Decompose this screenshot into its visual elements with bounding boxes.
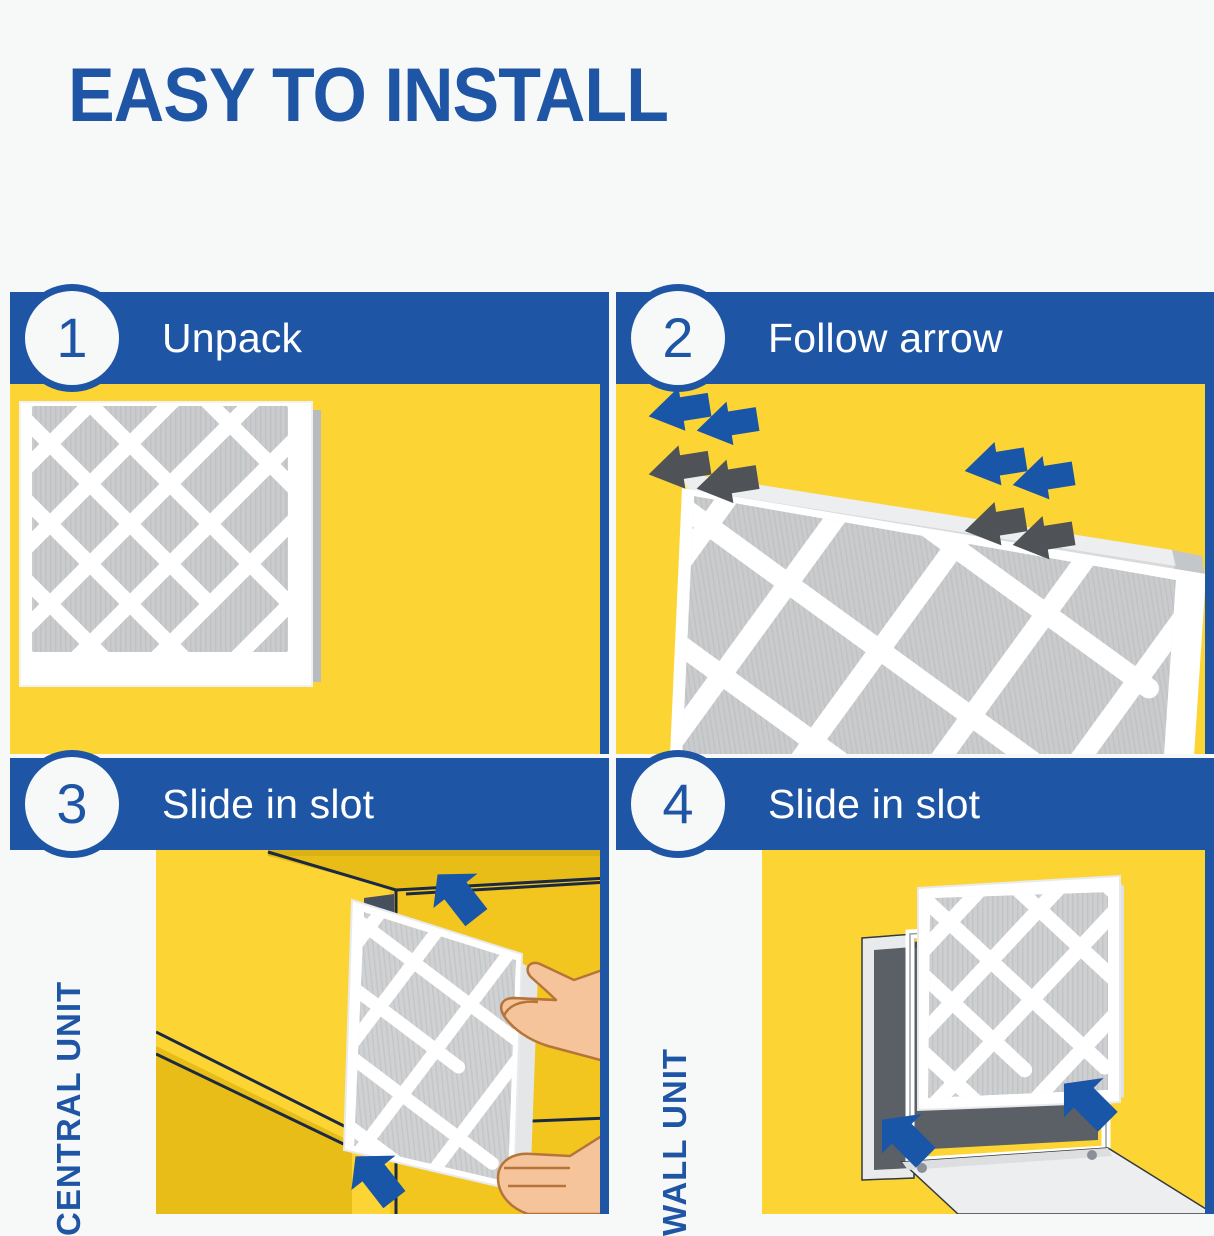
central-unit-illustration [156,850,608,1214]
step-panel-4: Slide in slot 4 [616,758,1214,1214]
step-3-badge: 3 [18,750,126,858]
panel-edge-right-top [1205,292,1214,754]
step-1-badge: 1 [18,284,126,392]
wall-unit-illustration [762,850,1214,1214]
step-1-illustration [10,384,608,754]
step-3-side-label: CENTRAL UNIT [50,981,88,1236]
step-3-illustration [156,850,608,1214]
step-2-number: 2 [662,310,693,366]
step-4-badge: 4 [624,750,732,858]
flat-air-filter-illustration [10,384,608,754]
step-1-number: 1 [56,310,87,366]
panel-divider-vertical-bottom [600,758,609,1214]
tilted-air-filter-illustration [616,384,1214,754]
step-4-label: Slide in slot [768,781,980,828]
step-2-label: Follow arrow [768,315,1003,362]
step-2-illustration [616,384,1214,754]
step-4-side-label: WALL UNIT [656,1048,694,1236]
step-panel-3: Slide in slot 3 [10,758,608,1214]
step-1-label: Unpack [162,315,302,362]
step-panel-2: Follow arrow 2 [616,292,1214,754]
page-title: EASY TO INSTALL [68,58,668,134]
step-2-badge: 2 [624,284,732,392]
panel-divider-vertical-top [600,292,609,754]
step-4-illustration [762,850,1214,1214]
step-3-number: 3 [56,776,87,832]
step-4-number: 4 [662,776,693,832]
step-panel-1: Unpack 1 [10,292,608,754]
panel-edge-right-bottom [1205,758,1214,1214]
step-3-label: Slide in slot [162,781,374,828]
